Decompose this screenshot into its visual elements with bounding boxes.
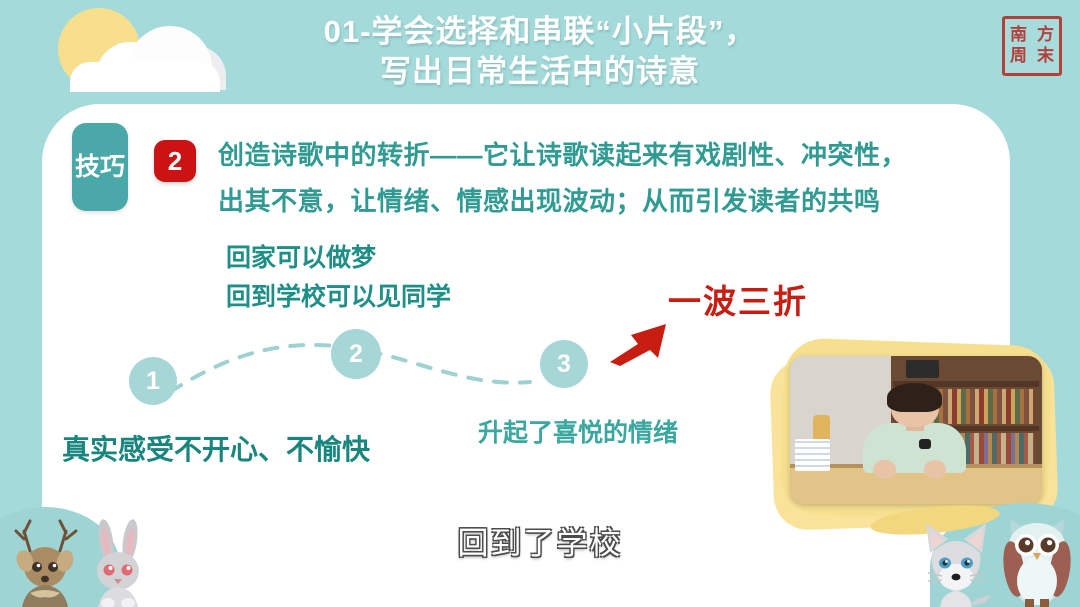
seal-char-1: 方 [1032, 25, 1059, 46]
step-number-badge: 2 [154, 140, 196, 182]
skill-badge: 技巧 [72, 123, 128, 211]
video-clapperboard-prop [906, 360, 939, 378]
video-book-stack-prop [795, 439, 830, 472]
dashed-flow-path [160, 330, 600, 410]
presenter-hand-left [873, 460, 896, 479]
slide-stage: 01-学会选择和串联“小片段”， 写出日常生活中的诗意 南 方 周 末 技巧 2… [0, 0, 1080, 607]
red-arrow-icon [608, 318, 672, 366]
cloud-icon-base [70, 62, 220, 92]
presenter-video[interactable] [790, 356, 1042, 504]
seal-char-3: 末 [1032, 46, 1059, 67]
example-line-1: 回家可以做梦 [226, 238, 376, 274]
video-desk [790, 468, 1042, 504]
presenter-microphone [919, 439, 932, 449]
flow-step-circle-1: 1 [129, 357, 177, 405]
flow-label-left: 真实感受不开心、不愉快 [62, 428, 370, 468]
presenter-hand-right [924, 460, 947, 479]
presenter-hair [887, 383, 942, 413]
example-line-2: 回到学校可以见同学 [226, 277, 451, 313]
tip-paragraph-line-1: 创造诗歌中的转折——它让诗歌读起来有戏剧性、冲突性， [218, 132, 938, 178]
brand-seal-logo: 南 方 周 末 [1002, 16, 1062, 76]
tip-paragraph: 创造诗歌中的转折——它让诗歌读起来有戏剧性、冲突性， 出其不意，让情绪、情感出现… [218, 132, 938, 224]
seal-char-2: 周 [1005, 46, 1032, 67]
subtitle-caption: 回到了学校 [0, 518, 1080, 563]
flow-step-circle-3: 3 [540, 340, 588, 388]
tip-paragraph-line-2: 出其不意，让情绪、情感出现波动；从而引发读者的共鸣 [218, 178, 938, 224]
flow-label-right: 升起了喜悦的情绪 [478, 413, 678, 449]
seal-char-0: 南 [1005, 25, 1032, 46]
red-annotation: 一波三折 [668, 275, 808, 323]
flow-step-circle-2: 2 [331, 329, 381, 379]
